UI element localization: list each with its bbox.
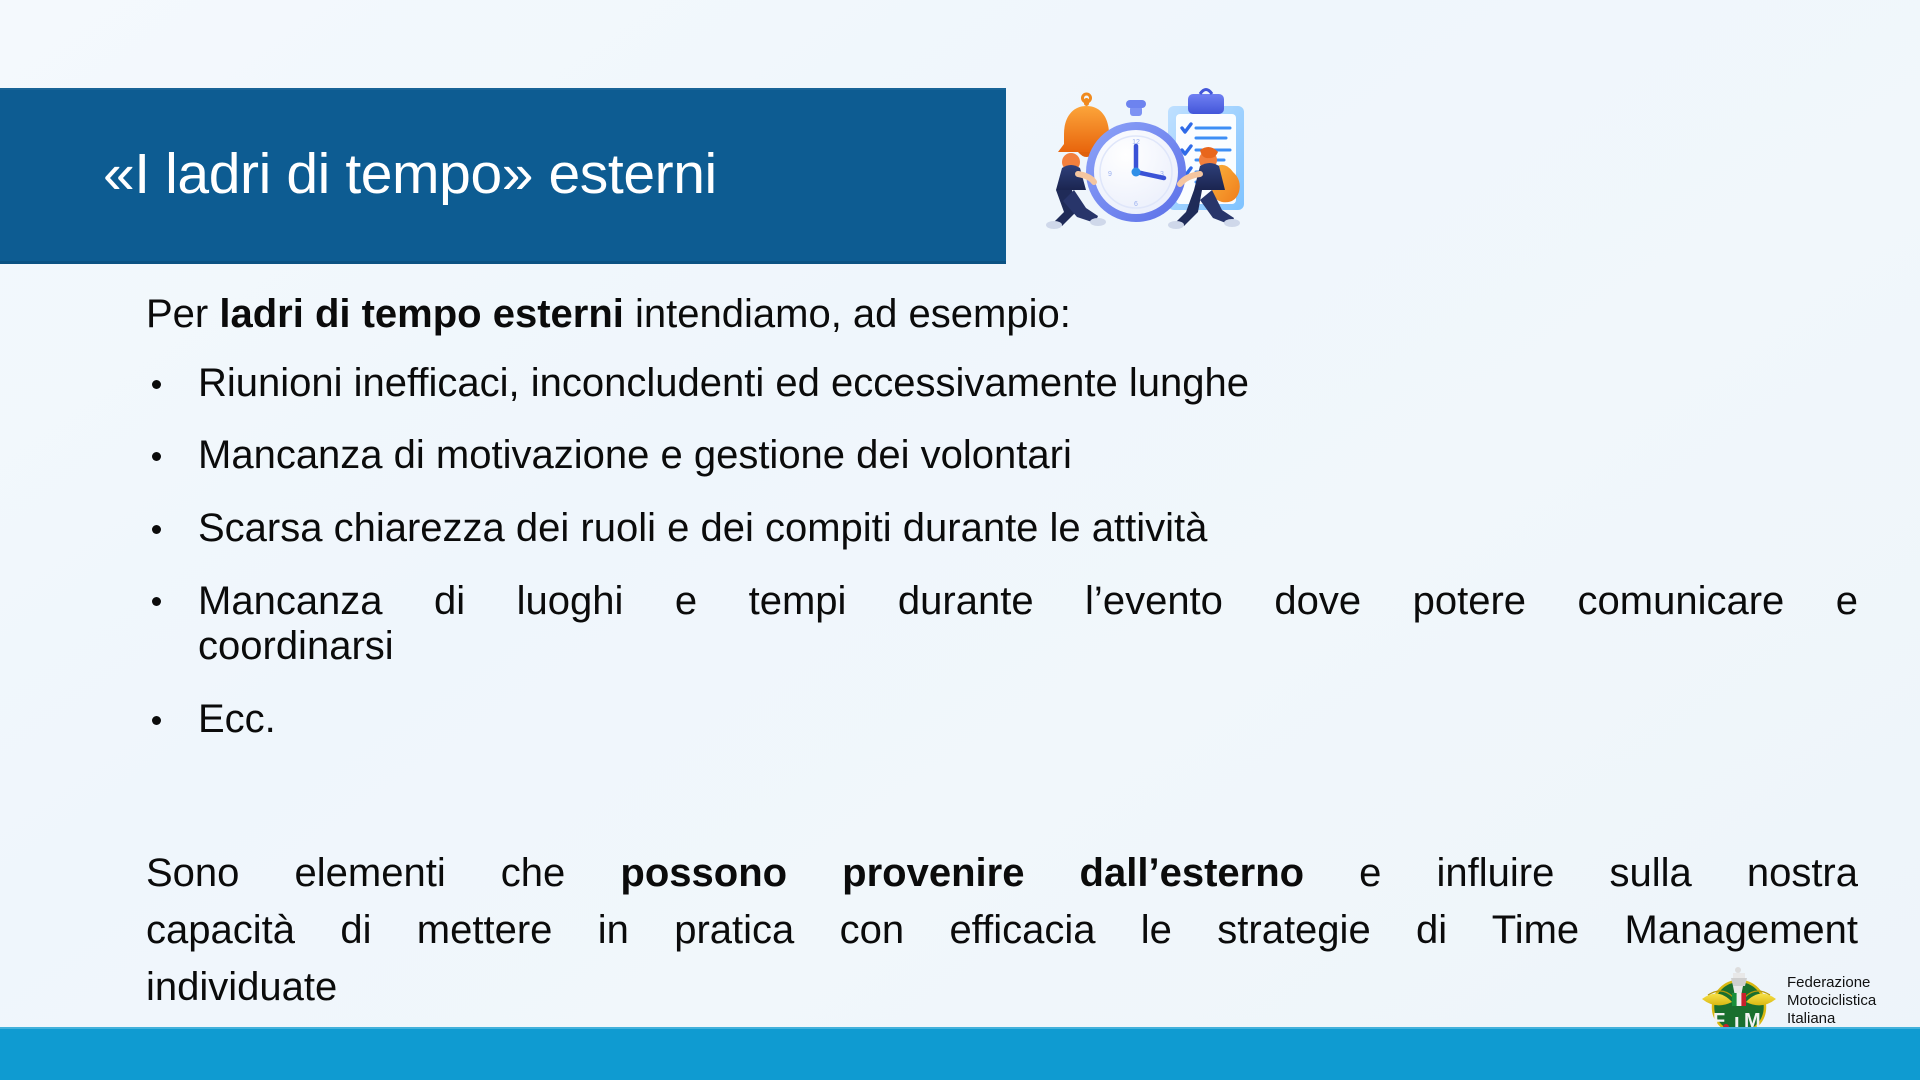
intro-after: intendiamo, ad esempio: (624, 292, 1071, 336)
title-band: «I ladri di tempo» esterni (0, 88, 1006, 264)
footer-bar (0, 1027, 1920, 1080)
bullet-dot-icon (152, 597, 161, 606)
list-item: Riunioni inefficaci, inconcludenti ed ec… (146, 361, 1858, 407)
intro-before: Per (146, 292, 219, 336)
closing-line-2: capacità di mettere in pratica con effic… (146, 902, 1858, 959)
closing-bold: possono provenire dall’esterno (620, 851, 1304, 895)
svg-text:6: 6 (1134, 201, 1138, 208)
bullet-dot-icon (152, 380, 161, 389)
closing-paragraph: Sono elementi che possono provenire dall… (146, 845, 1858, 1015)
list-item-label: Scarsa chiarezza dei ruoli e dei compiti… (198, 506, 1207, 550)
list-item: Scarsa chiarezza dei ruoli e dei compiti… (146, 506, 1858, 552)
svg-text:9: 9 (1108, 171, 1112, 178)
list-item: Ecc. (146, 697, 1858, 743)
list-item-label: Mancanza di motivazione e gestione dei v… (198, 433, 1072, 477)
list-item-label: Riunioni inefficaci, inconcludenti ed ec… (198, 361, 1249, 405)
time-management-illustration: 123 69 (1040, 86, 1270, 246)
list-item-label: Ecc. (198, 697, 276, 741)
closing-after: e influire sulla nostra (1304, 851, 1858, 895)
list-item-label-line-2: coordinarsi (198, 624, 1858, 670)
list-item: Mancanza di luoghi e tempi durante l’eve… (146, 579, 1858, 670)
bullet-dot-icon (152, 716, 161, 725)
closing-line-1: Sono elementi che possono provenire dall… (146, 845, 1858, 902)
intro-line: Per ladri di tempo esterni intendiamo, a… (146, 292, 1858, 337)
bullet-dot-icon (152, 525, 161, 534)
list-item-label-line-1: Mancanza di luoghi e tempi durante l’eve… (198, 579, 1858, 625)
body-content: Per ladri di tempo esterni intendiamo, a… (146, 292, 1858, 769)
closing-before: Sono elementi che (146, 851, 620, 895)
bullet-dot-icon (152, 452, 161, 461)
bullet-list: Riunioni inefficaci, inconcludenti ed ec… (146, 361, 1858, 743)
page-title: «I ladri di tempo» esterni (103, 145, 717, 205)
fmi-wordmark: Federazione Motociclistica Italiana (1787, 974, 1876, 1029)
closing-line-3: individuate (146, 959, 1858, 1016)
list-item: Mancanza di motivazione e gestione dei v… (146, 433, 1858, 479)
intro-bold: ladri di tempo esterni (219, 292, 624, 336)
slide-canvas: «I ladri di tempo» esterni (0, 0, 1920, 1080)
